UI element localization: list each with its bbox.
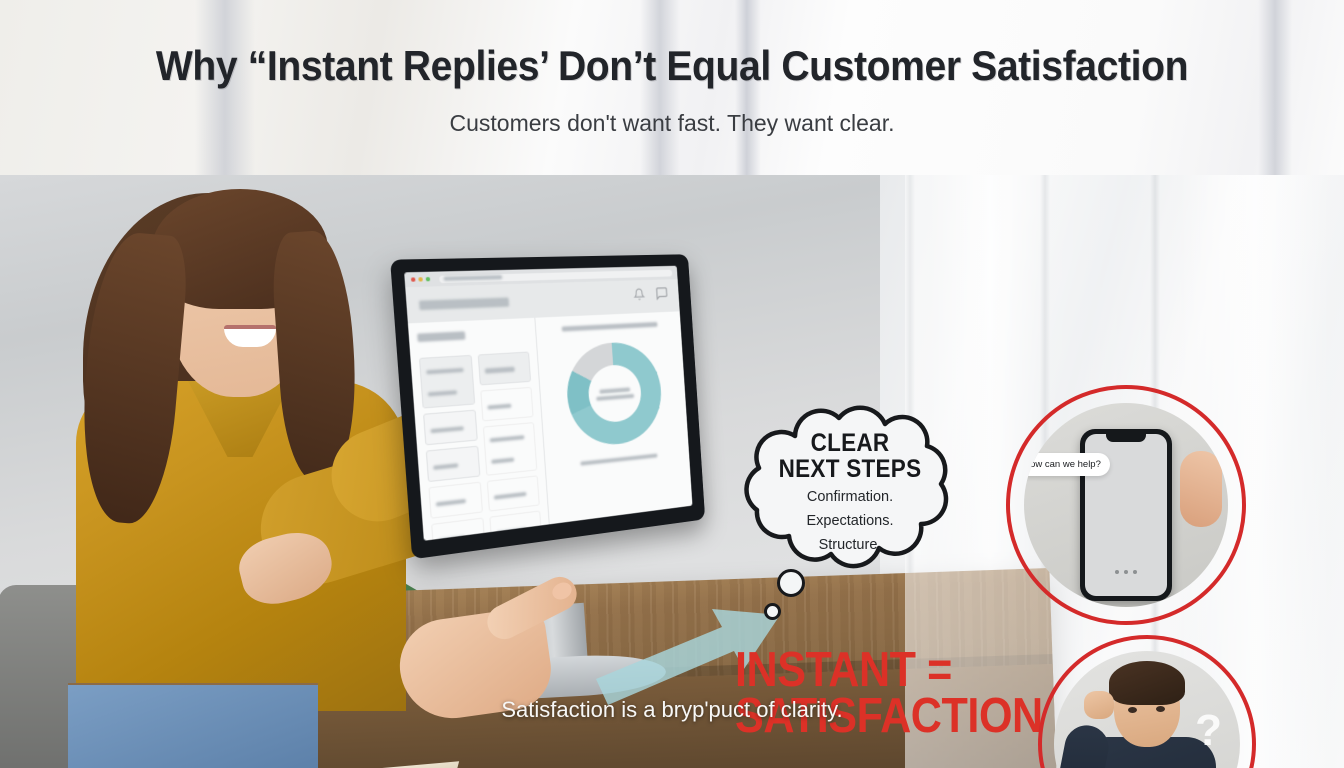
list-item[interactable] [483, 422, 537, 476]
photo-scene: CLEAR NEXT STEPS Confirmation. Expectati… [0, 175, 1344, 768]
bell-icon[interactable] [633, 288, 646, 306]
red-headline-line-1: INSTANT = [735, 647, 1025, 693]
thought-bubble-dot-large [777, 569, 805, 597]
list-item[interactable] [423, 410, 478, 446]
phone-circle: Hi! How can we help? [1024, 403, 1228, 607]
thought-bubble-dot-small [764, 603, 781, 620]
chart-panel [535, 311, 692, 524]
section-heading [417, 331, 465, 342]
bubble-line-1: CLEAR [747, 430, 954, 456]
list-item[interactable] [481, 387, 534, 422]
header-band: Why “Instant Replies’ Don’t Equal Custom… [0, 0, 1344, 175]
donut-chart [564, 340, 664, 449]
bubble-text: CLEAR NEXT STEPS Confirmation. Expectati… [735, 430, 965, 555]
bubble-sub-3: Structure. [735, 535, 965, 555]
infographic-canvas: Why “Instant Replies’ Don’t Equal Custom… [0, 0, 1344, 768]
red-headline: INSTANT = SATISFACTION [735, 647, 1065, 739]
chat-bubble: Hi! How can we help? [1024, 453, 1110, 476]
man-arm [1054, 722, 1112, 768]
footer-caption: Satisfaction is a bryp'puct of clarity. [0, 697, 1344, 723]
window-title [419, 297, 509, 310]
list-item[interactable] [478, 352, 531, 386]
fingers [1180, 451, 1222, 527]
chat-icon[interactable] [655, 286, 669, 306]
bubble-line-2: NEXT STEPS [747, 456, 954, 482]
page-title: Why “Instant Replies’ Don’t Equal Custom… [47, 42, 1297, 90]
list-item[interactable] [419, 355, 476, 409]
page-subtitle: Customers don't want fast. They want cle… [0, 110, 1344, 137]
monitor-screen[interactable] [404, 266, 692, 541]
typing-indicator [1115, 570, 1137, 574]
list-item[interactable] [428, 482, 483, 519]
desktop-monitor [402, 257, 714, 539]
thought-bubble: CLEAR NEXT STEPS Confirmation. Expectati… [735, 402, 965, 570]
chart-footnote [580, 454, 657, 466]
next-steps-panel [408, 318, 550, 541]
dashboard-body [408, 311, 693, 540]
phone-notch [1106, 434, 1146, 442]
list-item[interactable] [487, 475, 539, 511]
chart-caption [561, 322, 657, 332]
bubble-sub-2: Expectations. [735, 511, 965, 531]
bubble-sub-1: Confirmation. [735, 487, 965, 507]
list-item[interactable] [426, 446, 481, 483]
